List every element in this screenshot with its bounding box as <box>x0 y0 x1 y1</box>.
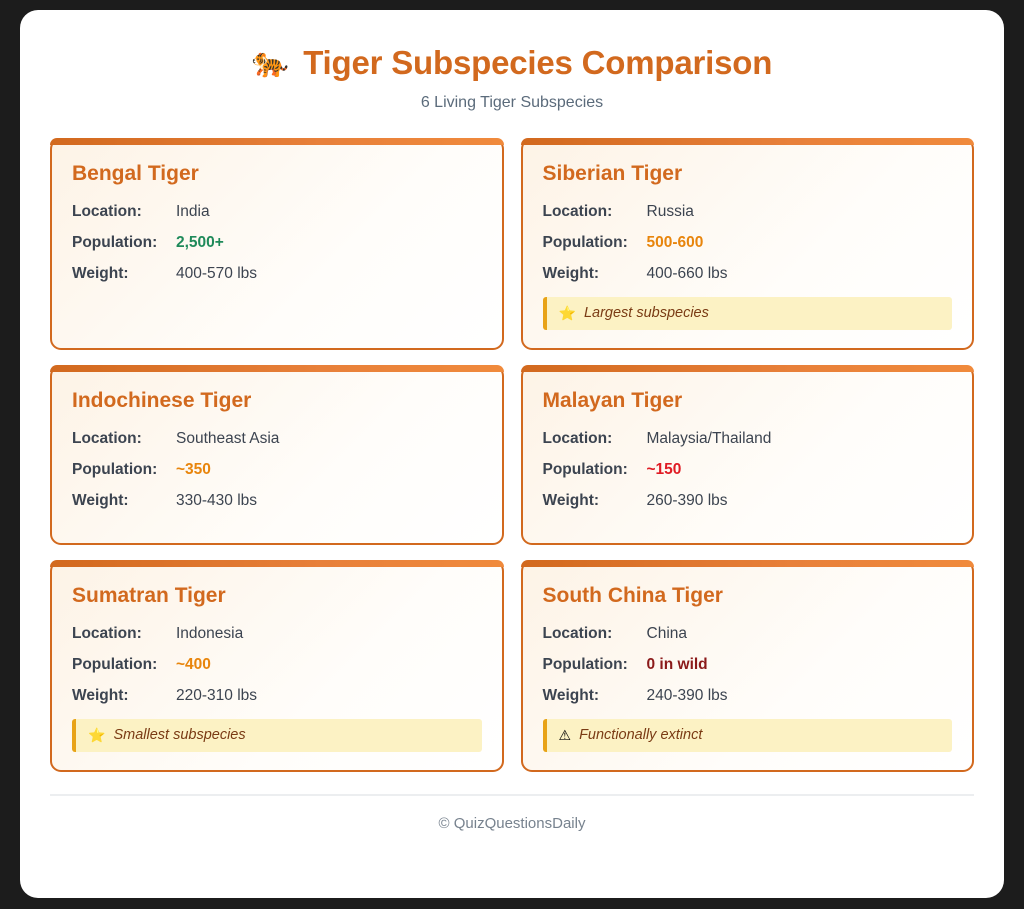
spec-label-weight: Weight: <box>72 492 176 510</box>
spec-row-population: Population:0 in wild <box>543 656 953 674</box>
card-accent-bar <box>521 365 975 372</box>
spec-row-population: Population:~150 <box>543 461 953 479</box>
spec-value-population: 500-600 <box>647 234 704 252</box>
subspecies-card: Bengal TigerLocation:IndiaPopulation:2,5… <box>50 138 504 350</box>
card-accent-bar <box>50 560 504 567</box>
subspecies-card: Malayan TigerLocation:Malaysia/ThailandP… <box>521 365 975 545</box>
card-note-text: Functionally extinct <box>579 727 702 743</box>
spec-row-population: Population:~350 <box>72 461 482 479</box>
spec-label-location: Location: <box>543 625 647 643</box>
spec-row-weight: Weight:330-430 lbs <box>72 492 482 510</box>
card-title: South China Tiger <box>543 584 953 608</box>
spec-row-weight: Weight:220-310 lbs <box>72 687 482 705</box>
spec-row-location: Location:China <box>543 625 953 643</box>
spec-row-weight: Weight:240-390 lbs <box>543 687 953 705</box>
page-subtitle: 6 Living Tiger Subspecies <box>50 94 974 112</box>
card-title: Indochinese Tiger <box>72 389 482 413</box>
spec-value-weight: 400-660 lbs <box>647 265 728 283</box>
card-accent-bar <box>50 365 504 372</box>
spec-value-weight: 220-310 lbs <box>176 687 257 705</box>
spec-row-location: Location:India <box>72 203 482 221</box>
spec-value-population: ~400 <box>176 656 211 674</box>
tiger-emoji: 🐅 <box>252 48 289 78</box>
spec-label-weight: Weight: <box>543 492 647 510</box>
card-note-text: Smallest subspecies <box>113 727 245 743</box>
spec-row-weight: Weight:400-660 lbs <box>543 265 953 283</box>
card-note-text: Largest subspecies <box>584 305 709 321</box>
spec-value-location: India <box>176 203 210 221</box>
spec-row-population: Population:2,500+ <box>72 234 482 252</box>
page-footer: © QuizQuestionsDaily <box>50 794 974 832</box>
subspecies-card: Sumatran TigerLocation:IndonesiaPopulati… <box>50 560 504 772</box>
spec-value-location: Southeast Asia <box>176 430 279 448</box>
spec-row-weight: Weight:260-390 lbs <box>543 492 953 510</box>
spec-row-population: Population:~400 <box>72 656 482 674</box>
subspecies-card: Indochinese TigerLocation:Southeast Asia… <box>50 365 504 545</box>
spec-value-location: Malaysia/Thailand <box>647 430 772 448</box>
spec-label-weight: Weight: <box>543 265 647 283</box>
spec-row-location: Location:Malaysia/Thailand <box>543 430 953 448</box>
spec-value-location: China <box>647 625 688 643</box>
warning-icon: ⚠ <box>559 728 572 742</box>
spec-label-location: Location: <box>543 430 647 448</box>
subspecies-card: Siberian TigerLocation:RussiaPopulation:… <box>521 138 975 350</box>
spec-label-location: Location: <box>72 203 176 221</box>
spec-label-location: Location: <box>72 430 176 448</box>
card-accent-bar <box>50 138 504 145</box>
card-note: ⭐Smallest subspecies <box>72 719 482 752</box>
footer-copyright: © QuizQuestionsDaily <box>50 815 974 832</box>
card-note: ⭐Largest subspecies <box>543 297 953 330</box>
subspecies-card: South China TigerLocation:ChinaPopulatio… <box>521 560 975 772</box>
card-accent-bar <box>521 138 975 145</box>
spec-value-weight: 240-390 lbs <box>647 687 728 705</box>
spec-value-location: Russia <box>647 203 694 221</box>
page-container: 🐅 Tiger Subspecies Comparison 6 Living T… <box>20 10 1004 898</box>
card-accent-bar <box>521 560 975 567</box>
spec-row-location: Location:Southeast Asia <box>72 430 482 448</box>
spec-value-population: 2,500+ <box>176 234 224 252</box>
spec-label-weight: Weight: <box>72 265 176 283</box>
spec-row-weight: Weight:400-570 lbs <box>72 265 482 283</box>
spec-label-population: Population: <box>543 461 647 479</box>
spec-value-population: ~350 <box>176 461 211 479</box>
spec-row-location: Location:Indonesia <box>72 625 482 643</box>
spec-label-weight: Weight: <box>72 687 176 705</box>
spec-label-weight: Weight: <box>543 687 647 705</box>
star-icon: ⭐ <box>559 306 576 320</box>
card-note: ⚠Functionally extinct <box>543 719 953 752</box>
title-row: 🐅 Tiger Subspecies Comparison <box>50 44 974 82</box>
spec-value-location: Indonesia <box>176 625 243 643</box>
card-title: Siberian Tiger <box>543 162 953 186</box>
spec-label-population: Population: <box>543 656 647 674</box>
spec-label-population: Population: <box>72 656 176 674</box>
star-icon: ⭐ <box>88 728 105 742</box>
spec-value-weight: 260-390 lbs <box>647 492 728 510</box>
spec-label-location: Location: <box>72 625 176 643</box>
spec-value-weight: 330-430 lbs <box>176 492 257 510</box>
card-title: Sumatran Tiger <box>72 584 482 608</box>
spec-label-population: Population: <box>72 461 176 479</box>
card-title: Malayan Tiger <box>543 389 953 413</box>
spec-value-population: 0 in wild <box>647 656 708 674</box>
spec-label-population: Population: <box>72 234 176 252</box>
page-header: 🐅 Tiger Subspecies Comparison 6 Living T… <box>50 44 974 112</box>
spec-value-population: ~150 <box>647 461 682 479</box>
spec-row-population: Population:500-600 <box>543 234 953 252</box>
subspecies-card-grid: Bengal TigerLocation:IndiaPopulation:2,5… <box>50 138 974 772</box>
card-title: Bengal Tiger <box>72 162 482 186</box>
spec-value-weight: 400-570 lbs <box>176 265 257 283</box>
spec-label-population: Population: <box>543 234 647 252</box>
page-title: Tiger Subspecies Comparison <box>303 44 772 82</box>
spec-label-location: Location: <box>543 203 647 221</box>
spec-row-location: Location:Russia <box>543 203 953 221</box>
